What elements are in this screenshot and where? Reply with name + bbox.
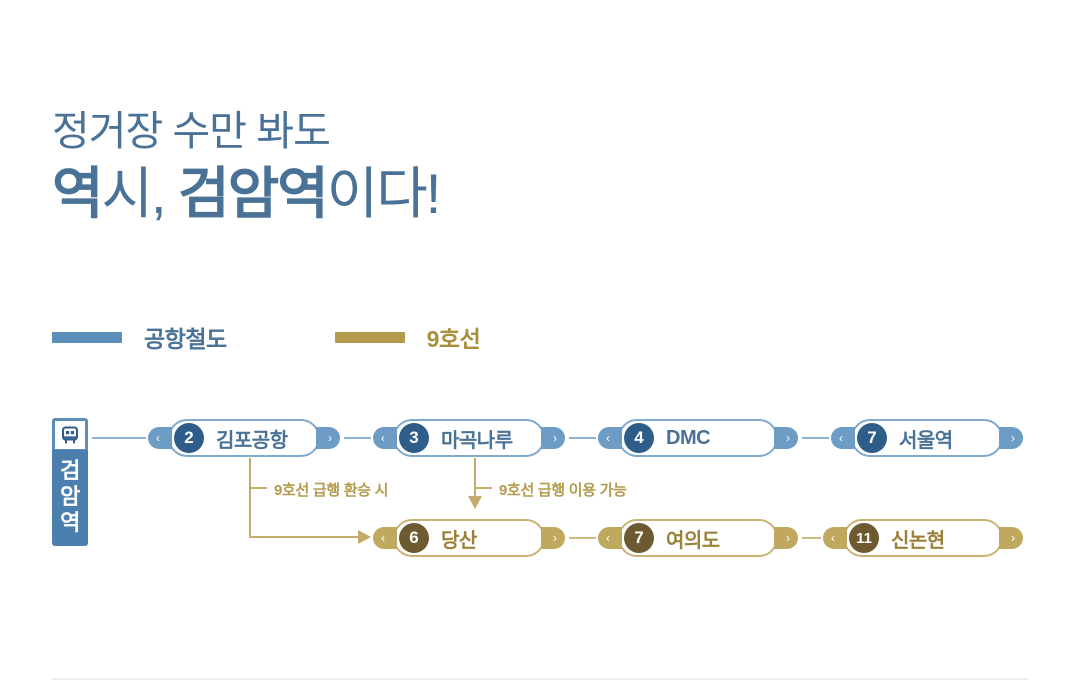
station-line-number: 11 [849,523,879,553]
note-transfer: 9호선 급행 환승 시 [274,479,388,500]
headline-title-part-4: 이다! [327,162,440,225]
rail-segment [802,537,821,539]
note-connector [474,487,492,489]
rail-segment [344,437,371,439]
origin-station-label: 검 암 역 [52,450,88,546]
chevron-left-icon[interactable]: ‹ [148,427,172,449]
chevron-right-icon[interactable]: › [541,427,565,449]
station-line-number: 7 [624,523,654,553]
station-sinnonhyeon[interactable]: ‹ 11 신논현 › [843,519,1003,557]
station-name: 서울역 [899,424,953,453]
rail-segment [92,437,146,439]
line-swatch-icon [52,332,122,343]
station-yeouido[interactable]: ‹ 7 여의도 › [618,519,778,557]
station-dmc[interactable]: ‹ 4 DMC › [618,419,778,457]
chevron-right-icon[interactable]: › [999,527,1023,549]
branch-line-horizontal [249,536,361,538]
station-line-number: 3 [399,423,429,453]
legend-label-line9: 9호선 [427,320,481,354]
rail-segment [569,437,596,439]
legend-item-line9: 9호선 [335,320,481,354]
chevron-right-icon[interactable]: › [774,427,798,449]
headline-title: 역시, 검암역이다! [52,163,439,226]
chevron-left-icon[interactable]: ‹ [598,527,622,549]
headline-block: 정거장 수만 봐도 역시, 검암역이다! [52,108,439,226]
origin-char-3: 역 [60,510,80,536]
origin-station-geomam: 검 암 역 [52,418,88,546]
station-name: 여의도 [666,524,720,553]
legend-item-airport-line: 공항철도 [52,320,227,354]
station-name: 김포공항 [216,424,288,453]
chevron-left-icon[interactable]: ‹ [831,427,855,449]
footer-divider [52,678,1028,680]
rail-segment [802,437,829,439]
chevron-right-icon[interactable]: › [316,427,340,449]
train-station-icon [52,418,88,452]
chevron-right-icon[interactable]: › [999,427,1023,449]
chevron-right-icon[interactable]: › [774,527,798,549]
station-magongnaru[interactable]: ‹ 3 마곡나루 › [393,419,545,457]
station-dangsan[interactable]: ‹ 6 당산 › [393,519,545,557]
station-name: 신논현 [891,524,945,553]
line-swatch-icon [335,332,405,343]
headline-title-part-1: 역 [52,162,102,225]
chevron-left-icon[interactable]: ‹ [598,427,622,449]
drop-line-vertical [474,458,476,498]
station-name: DMC [666,427,710,450]
rail-segment [569,537,596,539]
station-line-number: 7 [857,423,887,453]
legend-label-airport-line: 공항철도 [144,320,227,354]
station-name: 마곡나루 [441,424,513,453]
chevron-left-icon[interactable]: ‹ [823,527,847,549]
station-line-number: 6 [399,523,429,553]
branch-line-vertical [249,458,251,536]
infographic-page: 정거장 수만 봐도 역시, 검암역이다! 공항철도 9호선 [0,0,1080,690]
chevron-right-icon[interactable]: › [541,527,565,549]
headline-title-part-3: 검암역 [178,162,327,225]
station-gimpo-airport[interactable]: ‹ 2 김포공항 › [168,419,320,457]
origin-char-2: 암 [60,484,80,510]
headline-subtitle: 정거장 수만 봐도 [52,108,439,155]
legend: 공항철도 9호선 [52,320,480,354]
route-diagram: 검 암 역 9호선 급행 환승 시 9호선 급행 이용 가능 ‹ 2 김포공항 [0,400,1080,590]
station-line-number: 4 [624,423,654,453]
headline-title-part-2: 시, [102,162,179,225]
chevron-left-icon[interactable]: ‹ [373,427,397,449]
note-connector [249,487,267,489]
note-express-available: 9호선 급행 이용 가능 [499,479,627,500]
origin-char-1: 검 [60,458,80,484]
drop-arrowhead-icon [468,496,482,509]
station-line-number: 2 [174,423,204,453]
branch-arrowhead-icon [358,530,371,544]
station-seoul-station[interactable]: ‹ 7 서울역 › [851,419,1003,457]
chevron-left-icon[interactable]: ‹ [373,527,397,549]
station-name: 당산 [441,524,477,553]
